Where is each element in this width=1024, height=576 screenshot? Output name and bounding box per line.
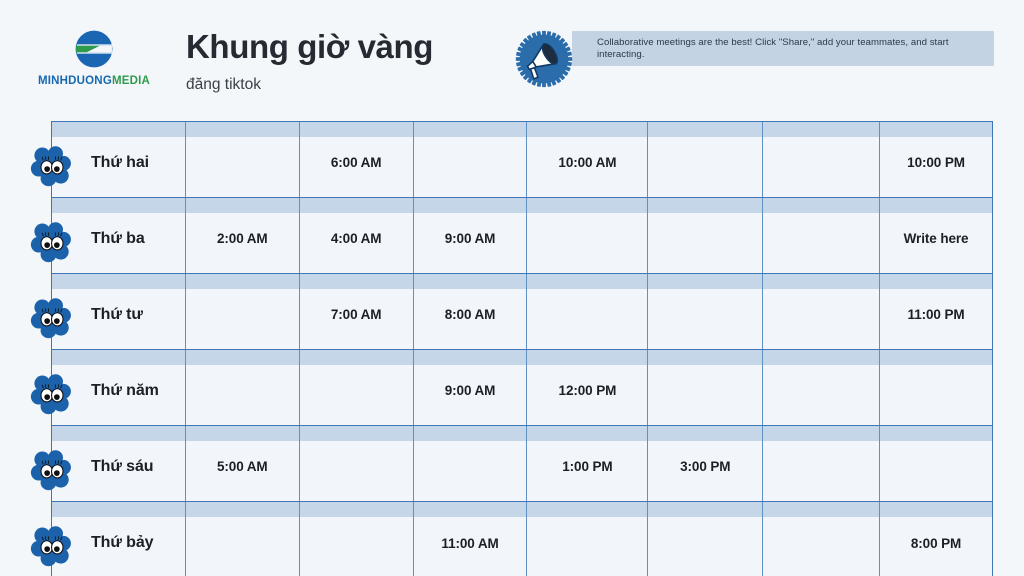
time-slot-cell[interactable]	[763, 198, 880, 273]
eyes-cloud-avatar-icon	[30, 372, 74, 416]
row-band	[414, 426, 527, 441]
row-band	[186, 350, 299, 365]
time-slot-cell[interactable]: 2:00 AM	[186, 198, 300, 273]
time-slot-value: 9:00 AM	[445, 377, 496, 398]
time-slot-cell[interactable]: 7:00 AM	[300, 274, 414, 349]
row-band	[414, 198, 527, 213]
time-slot-cell[interactable]	[300, 502, 414, 576]
time-slot-value: 5:00 AM	[217, 453, 268, 474]
table-row: Thứ bảy11:00 AM8:00 PM	[52, 502, 992, 576]
time-slot-cell[interactable]	[763, 122, 880, 197]
time-slot-value: 12:00 PM	[559, 377, 617, 398]
row-band	[527, 502, 647, 517]
row-band	[763, 502, 879, 517]
time-slot-value: 10:00 AM	[558, 149, 616, 170]
tip-bar: Collaborative meetings are the best! Cli…	[572, 31, 994, 66]
time-slot-cell[interactable]	[648, 274, 763, 349]
time-slot-cell[interactable]	[763, 426, 880, 501]
row-band	[527, 198, 647, 213]
time-slot-value: 10:00 PM	[907, 149, 965, 170]
row-band	[527, 274, 647, 289]
time-slot-cell[interactable]: 8:00 PM	[880, 502, 992, 576]
row-band	[414, 502, 527, 517]
time-slot-cell[interactable]: 3:00 PM	[648, 426, 763, 501]
brand-wordmark: MINHDUONGMEDIA	[38, 75, 150, 87]
minhduongmedia-circle-logo-icon	[71, 26, 117, 72]
row-band	[648, 426, 762, 441]
brand-wordmark-secondary: MEDIA	[112, 75, 150, 87]
tip-text: Collaborative meetings are the best! Cli…	[572, 37, 994, 61]
eyes-cloud-avatar-icon	[30, 448, 74, 492]
row-band	[527, 350, 647, 365]
row-band	[186, 122, 299, 137]
row-band	[52, 426, 185, 441]
megaphone-badge-icon	[512, 27, 576, 91]
time-slot-value: 1:00 PM	[562, 453, 612, 474]
time-slot-cell[interactable]	[527, 274, 648, 349]
row-band	[414, 274, 527, 289]
time-slot-cell[interactable]: 1:00 PM	[527, 426, 648, 501]
time-slot-cell[interactable]	[527, 198, 648, 273]
table-row: Thứ sáu5:00 AM1:00 PM3:00 PM	[52, 426, 992, 502]
time-slot-cell[interactable]: 10:00 PM	[880, 122, 992, 197]
row-band	[300, 198, 413, 213]
brand-wordmark-primary: MINHDUONG	[38, 75, 112, 87]
row-band	[880, 350, 992, 365]
row-band	[52, 198, 185, 213]
row-band	[186, 274, 299, 289]
row-band	[527, 426, 647, 441]
time-slot-value: 3:00 PM	[680, 453, 730, 474]
row-band	[414, 350, 527, 365]
row-band	[648, 198, 762, 213]
time-slot-cell[interactable]: 5:00 AM	[186, 426, 300, 501]
time-slot-cell[interactable]: 10:00 AM	[527, 122, 648, 197]
table-row: Thứ năm9:00 AM12:00 PM	[52, 350, 992, 426]
time-slot-cell[interactable]: Write here	[880, 198, 992, 273]
row-band	[186, 502, 299, 517]
time-slot-cell[interactable]: 9:00 AM	[414, 198, 528, 273]
row-band	[414, 122, 527, 137]
time-slot-value: 6:00 AM	[331, 149, 382, 170]
time-slot-cell[interactable]: 6:00 AM	[300, 122, 414, 197]
time-slot-value: 8:00 PM	[911, 530, 961, 551]
brand-logo: MINHDUONGMEDIA	[34, 26, 154, 87]
time-slot-cell[interactable]: 12:00 PM	[527, 350, 648, 425]
time-slot-cell[interactable]: 11:00 AM	[414, 502, 528, 576]
row-band	[648, 274, 762, 289]
time-slot-cell[interactable]	[648, 122, 763, 197]
row-band	[186, 426, 299, 441]
time-slot-cell[interactable]	[186, 350, 300, 425]
time-slot-cell[interactable]: 11:00 PM	[880, 274, 992, 349]
header: MINHDUONGMEDIA Khung giờ vàng đăng tikto…	[0, 0, 1024, 112]
row-band	[763, 274, 879, 289]
time-slot-cell[interactable]: 4:00 AM	[300, 198, 414, 273]
tip-banner: Collaborative meetings are the best! Cli…	[512, 27, 994, 69]
row-band	[186, 198, 299, 213]
row-band	[52, 350, 185, 365]
row-band	[880, 426, 992, 441]
row-band	[763, 426, 879, 441]
time-slot-cell[interactable]	[648, 350, 763, 425]
row-band	[300, 274, 413, 289]
time-slot-cell[interactable]	[414, 426, 528, 501]
row-band	[300, 350, 413, 365]
page-subtitle: đăng tiktok	[186, 76, 433, 94]
row-band	[52, 274, 185, 289]
time-slot-cell[interactable]	[880, 426, 992, 501]
time-slot-value: 8:00 AM	[445, 301, 496, 322]
row-band	[300, 122, 413, 137]
row-band	[880, 198, 992, 213]
time-slot-value: 2:00 AM	[217, 225, 268, 246]
row-band	[648, 122, 762, 137]
table-row: Thứ ba2:00 AM4:00 AM9:00 AMWrite here	[52, 198, 992, 274]
slide-canvas: MINHDUONGMEDIA Khung giờ vàng đăng tikto…	[0, 0, 1024, 576]
row-band	[527, 122, 647, 137]
time-slot-value: 9:00 AM	[445, 225, 496, 246]
eyes-cloud-avatar-icon	[30, 296, 74, 340]
time-slot-cell[interactable]	[763, 274, 880, 349]
time-slot-cell[interactable]: 8:00 AM	[414, 274, 528, 349]
schedule-table: Thứ hai6:00 AM10:00 AM10:00 PM Thứ ba2:0…	[51, 121, 993, 576]
eyes-cloud-avatar-icon	[30, 144, 74, 188]
row-band	[300, 426, 413, 441]
time-slot-cell[interactable]	[186, 122, 300, 197]
time-slot-cell[interactable]	[300, 350, 414, 425]
row-band	[648, 350, 762, 365]
time-slot-cell[interactable]	[763, 350, 880, 425]
row-band	[763, 350, 879, 365]
time-slot-value: 11:00 PM	[908, 301, 965, 322]
time-slot-cell[interactable]	[300, 426, 414, 501]
row-band	[52, 502, 185, 517]
time-slot-value: Write here	[904, 225, 969, 246]
row-band	[880, 274, 992, 289]
row-band	[880, 122, 992, 137]
eyes-cloud-avatar-icon	[30, 524, 74, 568]
time-slot-cell[interactable]	[763, 502, 880, 576]
table-row: Thứ hai6:00 AM10:00 AM10:00 PM	[52, 122, 992, 198]
title-block: Khung giờ vàng đăng tiktok	[186, 28, 433, 94]
time-slot-cell[interactable]	[186, 502, 300, 576]
row-band	[648, 502, 762, 517]
time-slot-cell[interactable]: 9:00 AM	[414, 350, 528, 425]
page-title: Khung giờ vàng	[186, 28, 433, 66]
time-slot-cell[interactable]	[527, 502, 648, 576]
time-slot-value: 7:00 AM	[331, 301, 382, 322]
time-slot-value: 11:00 AM	[441, 530, 498, 551]
row-band	[763, 198, 879, 213]
time-slot-cell[interactable]	[880, 350, 992, 425]
time-slot-cell[interactable]	[648, 502, 763, 576]
row-band	[763, 122, 879, 137]
eyes-cloud-avatar-icon	[30, 220, 74, 264]
row-band	[52, 122, 185, 137]
table-row: Thứ tư7:00 AM8:00 AM11:00 PM	[52, 274, 992, 350]
time-slot-value: 4:00 AM	[331, 225, 382, 246]
row-band	[880, 502, 992, 517]
time-slot-cell[interactable]	[186, 274, 300, 349]
time-slot-cell[interactable]	[414, 122, 528, 197]
row-band	[300, 502, 413, 517]
time-slot-cell[interactable]	[648, 198, 763, 273]
